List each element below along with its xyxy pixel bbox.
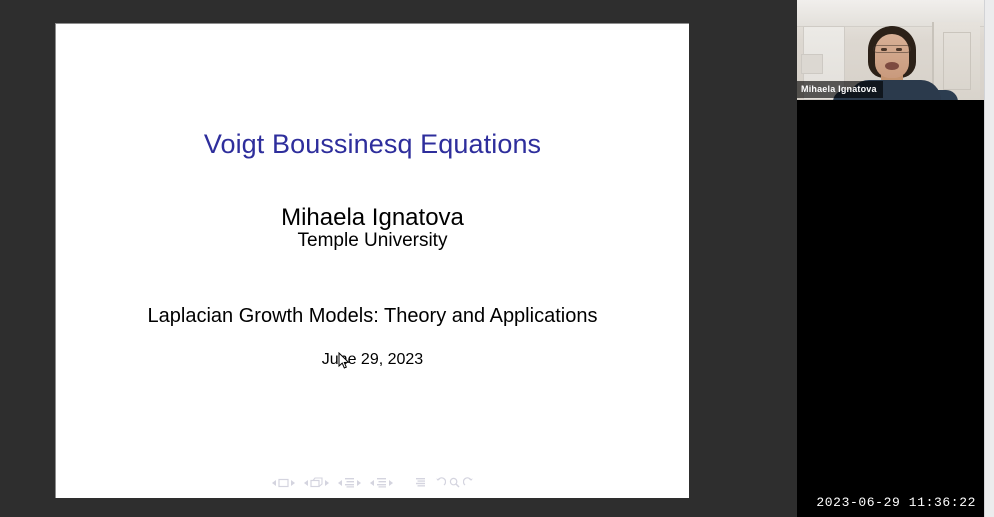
slide-title: Voigt Boussinesq Equations — [56, 129, 689, 160]
nav-group-section — [370, 477, 393, 488]
previous-section-arrow-icon[interactable] — [370, 480, 374, 486]
nav-group-subsection — [338, 477, 361, 488]
forward-icon[interactable] — [463, 477, 474, 488]
back-icon[interactable] — [435, 477, 446, 488]
search-icon[interactable] — [449, 477, 460, 488]
person-mouth — [885, 62, 899, 70]
video-panel[interactable]: Mihaela Ignatova 2023-06-29 11:36:22 — [797, 0, 984, 517]
beamer-navigation-bar[interactable] — [56, 477, 689, 488]
pdf-slide[interactable]: Voigt Boussinesq Equations Mihaela Ignat… — [55, 23, 689, 498]
nav-group-slide — [272, 478, 295, 488]
participant-name-label: Mihaela Ignatova — [797, 81, 883, 98]
slide-date: June 29, 2023 — [56, 351, 689, 369]
wall-panel — [801, 54, 823, 74]
slide-event-title: Laplacian Growth Models: Theory and Appl… — [56, 305, 689, 328]
section-icon[interactable] — [376, 477, 387, 488]
nav-group-frame — [304, 477, 329, 488]
slide-frame-icon[interactable] — [278, 478, 289, 488]
screen-capture: Voigt Boussinesq Equations Mihaela Ignat… — [0, 0, 994, 517]
next-slide-arrow-icon[interactable] — [291, 480, 295, 486]
frame-stack-icon[interactable] — [310, 477, 323, 488]
person-glasses — [873, 45, 911, 53]
vertical-scrollbar[interactable] — [984, 0, 994, 517]
person-face — [875, 34, 909, 78]
next-section-arrow-icon[interactable] — [389, 480, 393, 486]
timestamp-overlay: 2023-06-29 11:36:22 — [816, 495, 976, 510]
slide-author: Mihaela Ignatova — [56, 204, 689, 232]
previous-slide-arrow-icon[interactable] — [272, 480, 276, 486]
webcam-feed[interactable]: Mihaela Ignatova — [797, 0, 984, 100]
slide-affiliation: Temple University — [56, 230, 689, 252]
previous-subsection-arrow-icon[interactable] — [338, 480, 342, 486]
nav-tools — [435, 477, 474, 488]
next-subsection-arrow-icon[interactable] — [357, 480, 361, 486]
next-frame-arrow-icon[interactable] — [325, 480, 329, 486]
subsection-icon[interactable] — [344, 477, 355, 488]
document-icon[interactable] — [415, 477, 426, 488]
door-right — [932, 22, 980, 100]
previous-frame-arrow-icon[interactable] — [304, 480, 308, 486]
